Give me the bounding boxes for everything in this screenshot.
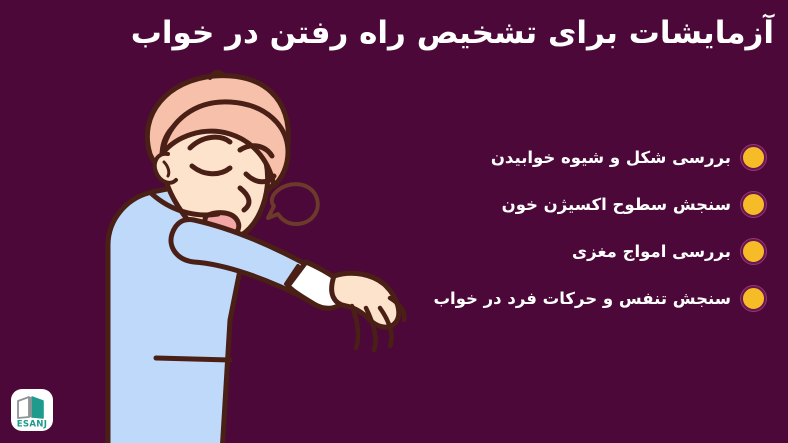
bullet-dot-icon: [741, 145, 766, 170]
brand-logo: ESANJ: [10, 388, 54, 432]
shoulder-line: [156, 358, 230, 360]
exam-list: بررسی شکل و شیوه خوابیدن سنجش سطوح اکسیژ…: [312, 134, 772, 322]
list-item: سنجش سطوح اکسیژن خون: [312, 181, 772, 228]
list-item: بررسی امواج مغزی: [312, 228, 772, 275]
logo-wordmark: ESANJ: [17, 420, 48, 430]
page-title: آزمایشات برای تشخیص راه رفتن در خواب: [14, 14, 774, 54]
list-item-label: بررسی شکل و شیوه خوابیدن: [491, 148, 731, 168]
list-item-label: سنجش تنفس و حرکات فرد در خواب: [433, 289, 731, 309]
list-item-label: سنجش سطوح اکسیژن خون: [502, 195, 731, 215]
snore-bubble-icon: [268, 184, 318, 224]
bullet-dot-icon: [741, 286, 766, 311]
bullet-dot-icon: [741, 239, 766, 264]
list-item: سنجش تنفس و حرکات فرد در خواب: [312, 275, 772, 322]
list-item-label: بررسی امواج مغزی: [572, 242, 731, 262]
poster-canvas: آزمایشات برای تشخیص راه رفتن در خواب: [0, 0, 788, 443]
list-item: بررسی شکل و شیوه خوابیدن: [312, 134, 772, 181]
bullet-dot-icon: [741, 192, 766, 217]
logo-book-mark-icon: [18, 397, 43, 418]
